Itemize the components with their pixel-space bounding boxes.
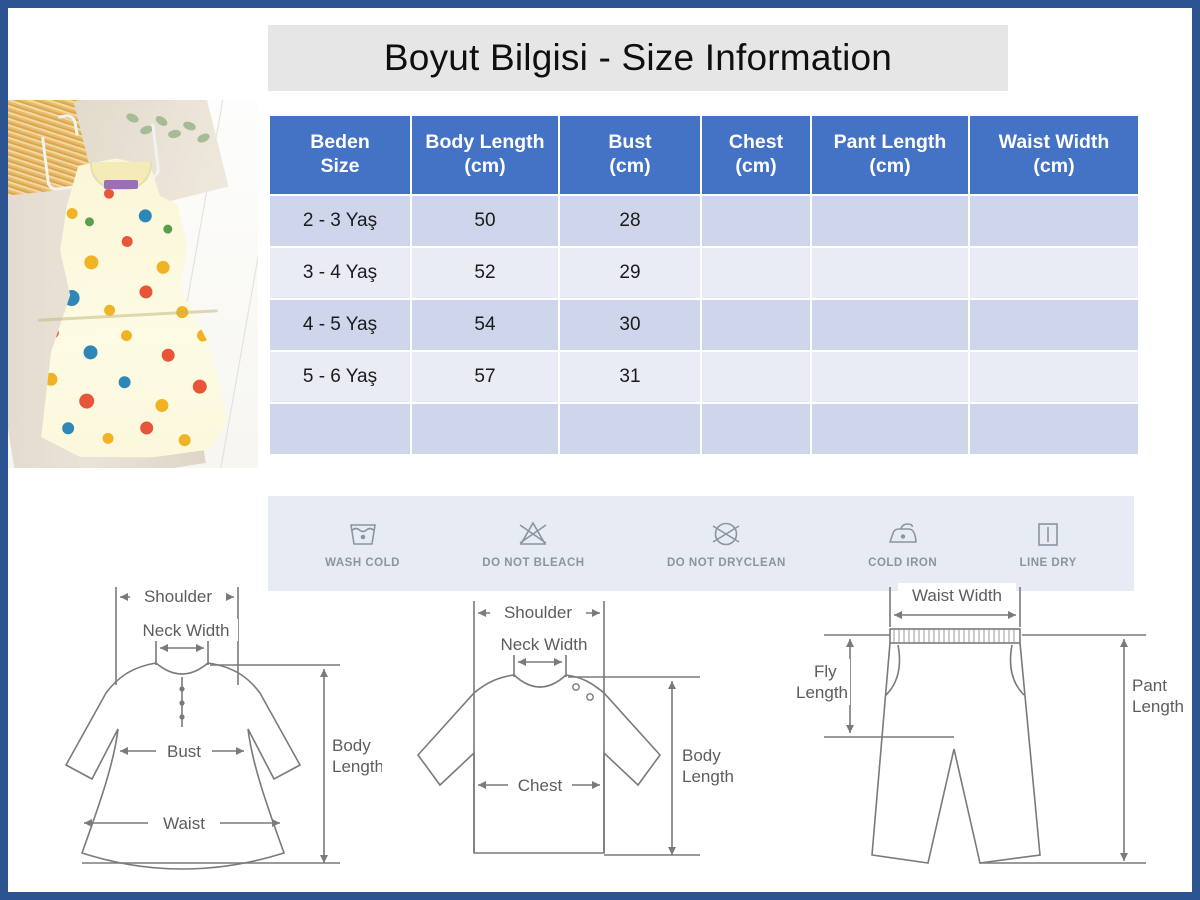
- cell-body-length: 50: [412, 196, 558, 246]
- cell-pant-length: [812, 352, 968, 402]
- cell-waist-width: [970, 196, 1138, 246]
- cell-bust: [560, 404, 700, 454]
- care-item-line-dry: LINE DRY: [1020, 518, 1077, 569]
- pants-label-pant-length-2: Length: [1132, 697, 1184, 716]
- table-row: [270, 404, 1138, 454]
- care-item-do-not-dryclean: DO NOT DRYCLEAN: [667, 518, 786, 569]
- column-header-chest: Chest (cm): [702, 116, 810, 194]
- dress-measurement-diagram: Shoulder Neck Width Bust Waist Body Leng…: [22, 573, 382, 893]
- cell-chest: [702, 300, 810, 350]
- dress-label-body-length-2: Length: [332, 757, 382, 776]
- column-header-chest-line1: Chest: [702, 131, 810, 155]
- column-header-body-length-line2: (cm): [412, 155, 558, 179]
- cell-chest: [702, 248, 810, 298]
- care-label-cold-iron: COLD IRON: [868, 557, 937, 569]
- cell-size: 4 - 5 Yaş: [270, 300, 410, 350]
- column-header-chest-line2: (cm): [702, 155, 810, 179]
- care-label-do-not-dryclean: DO NOT DRYCLEAN: [667, 557, 786, 569]
- care-item-do-not-bleach: DO NOT BLEACH: [482, 518, 584, 569]
- care-item-wash-cold: WASH COLD: [325, 518, 400, 569]
- cell-chest: [702, 404, 810, 454]
- cell-bust: 31: [560, 352, 700, 402]
- column-header-waist-width-line1: Waist Width: [970, 131, 1138, 155]
- pants-measurement-diagram: Waist Width Fly Length Pant Length: [794, 573, 1184, 893]
- column-header-size: Beden Size: [270, 116, 410, 194]
- dress-label-bust: Bust: [167, 742, 201, 761]
- cell-chest: [702, 352, 810, 402]
- cell-size: [270, 404, 410, 454]
- dress-label-shoulder: Shoulder: [144, 587, 212, 606]
- shirt-measurement-diagram: Shoulder Neck Width Chest Body Length: [400, 573, 760, 893]
- table-row: 3 - 4 Yaş 52 29: [270, 248, 1138, 298]
- cell-pant-length: [812, 404, 968, 454]
- cell-chest: [702, 196, 810, 246]
- dress-label-body-length-1: Body: [332, 736, 371, 755]
- cell-waist-width: [970, 248, 1138, 298]
- page-title-band: Boyut Bilgisi - Size Information: [268, 25, 1008, 91]
- column-header-waist-width-line2: (cm): [970, 155, 1138, 179]
- column-header-body-length: Body Length (cm): [412, 116, 558, 194]
- pants-label-fly-length-1: Fly: [814, 662, 837, 681]
- dress-label-neck-width: Neck Width: [143, 621, 230, 640]
- column-header-body-length-line1: Body Length: [412, 131, 558, 155]
- column-header-size-line1: Beden: [270, 131, 410, 155]
- care-label-do-not-bleach: DO NOT BLEACH: [482, 557, 584, 569]
- cell-body-length: 52: [412, 248, 558, 298]
- shirt-label-body-length-2: Length: [682, 767, 734, 786]
- dress-label-waist: Waist: [163, 814, 205, 833]
- cold-iron-icon: [885, 518, 921, 550]
- cell-size: 3 - 4 Yaş: [270, 248, 410, 298]
- column-header-pant-length-line1: Pant Length: [812, 131, 968, 155]
- cell-waist-width: [970, 300, 1138, 350]
- line-dry-icon: [1032, 518, 1064, 550]
- column-header-pant-length-line2: (cm): [812, 155, 968, 179]
- cell-pant-length: [812, 196, 968, 246]
- column-header-bust-line2: (cm): [560, 155, 700, 179]
- shirt-label-chest: Chest: [518, 776, 563, 795]
- cell-bust: 30: [560, 300, 700, 350]
- pants-label-waist-width: Waist Width: [912, 586, 1002, 605]
- cell-size: 5 - 6 Yaş: [270, 352, 410, 402]
- column-header-pant-length: Pant Length (cm): [812, 116, 968, 194]
- cell-bust: 28: [560, 196, 700, 246]
- cell-body-length: 54: [412, 300, 558, 350]
- shirt-label-body-length-1: Body: [682, 746, 721, 765]
- column-header-size-line2: Size: [270, 155, 410, 179]
- cell-pant-length: [812, 248, 968, 298]
- cell-body-length: [412, 404, 558, 454]
- size-table: Beden Size Body Length (cm) Bust (cm) Ch…: [268, 114, 1140, 456]
- table-row: 4 - 5 Yaş 54 30: [270, 300, 1138, 350]
- care-item-cold-iron: COLD IRON: [868, 518, 937, 569]
- table-row: 2 - 3 Yaş 50 28: [270, 196, 1138, 246]
- pants-label-pant-length-1: Pant: [1132, 676, 1167, 695]
- care-label-wash-cold: WASH COLD: [325, 557, 400, 569]
- cell-pant-length: [812, 300, 968, 350]
- page-title: Boyut Bilgisi - Size Information: [384, 37, 892, 79]
- column-header-bust: Bust (cm): [560, 116, 700, 194]
- shirt-label-shoulder: Shoulder: [504, 603, 572, 622]
- cell-waist-width: [970, 404, 1138, 454]
- cell-waist-width: [970, 352, 1138, 402]
- table-header-row: Beden Size Body Length (cm) Bust (cm) Ch…: [270, 116, 1138, 194]
- cell-bust: 29: [560, 248, 700, 298]
- brand-tag: [104, 180, 138, 189]
- table-row: 5 - 6 Yaş 57 31: [270, 352, 1138, 402]
- column-header-waist-width: Waist Width (cm): [970, 116, 1138, 194]
- product-photo: [8, 100, 258, 468]
- shirt-label-neck-width: Neck Width: [501, 635, 588, 654]
- size-chart-page: Boyut Bilgisi - Size Information: [0, 0, 1200, 900]
- pants-label-fly-length-2: Length: [796, 683, 848, 702]
- cell-body-length: 57: [412, 352, 558, 402]
- do-not-dryclean-icon: [708, 518, 744, 550]
- measurement-diagrams: Shoulder Neck Width Bust Waist Body Leng…: [8, 573, 1192, 893]
- column-header-bust-line1: Bust: [560, 131, 700, 155]
- wash-cold-icon: [346, 518, 380, 550]
- cell-size: 2 - 3 Yaş: [270, 196, 410, 246]
- do-not-bleach-icon: [515, 518, 551, 550]
- care-label-line-dry: LINE DRY: [1020, 557, 1077, 569]
